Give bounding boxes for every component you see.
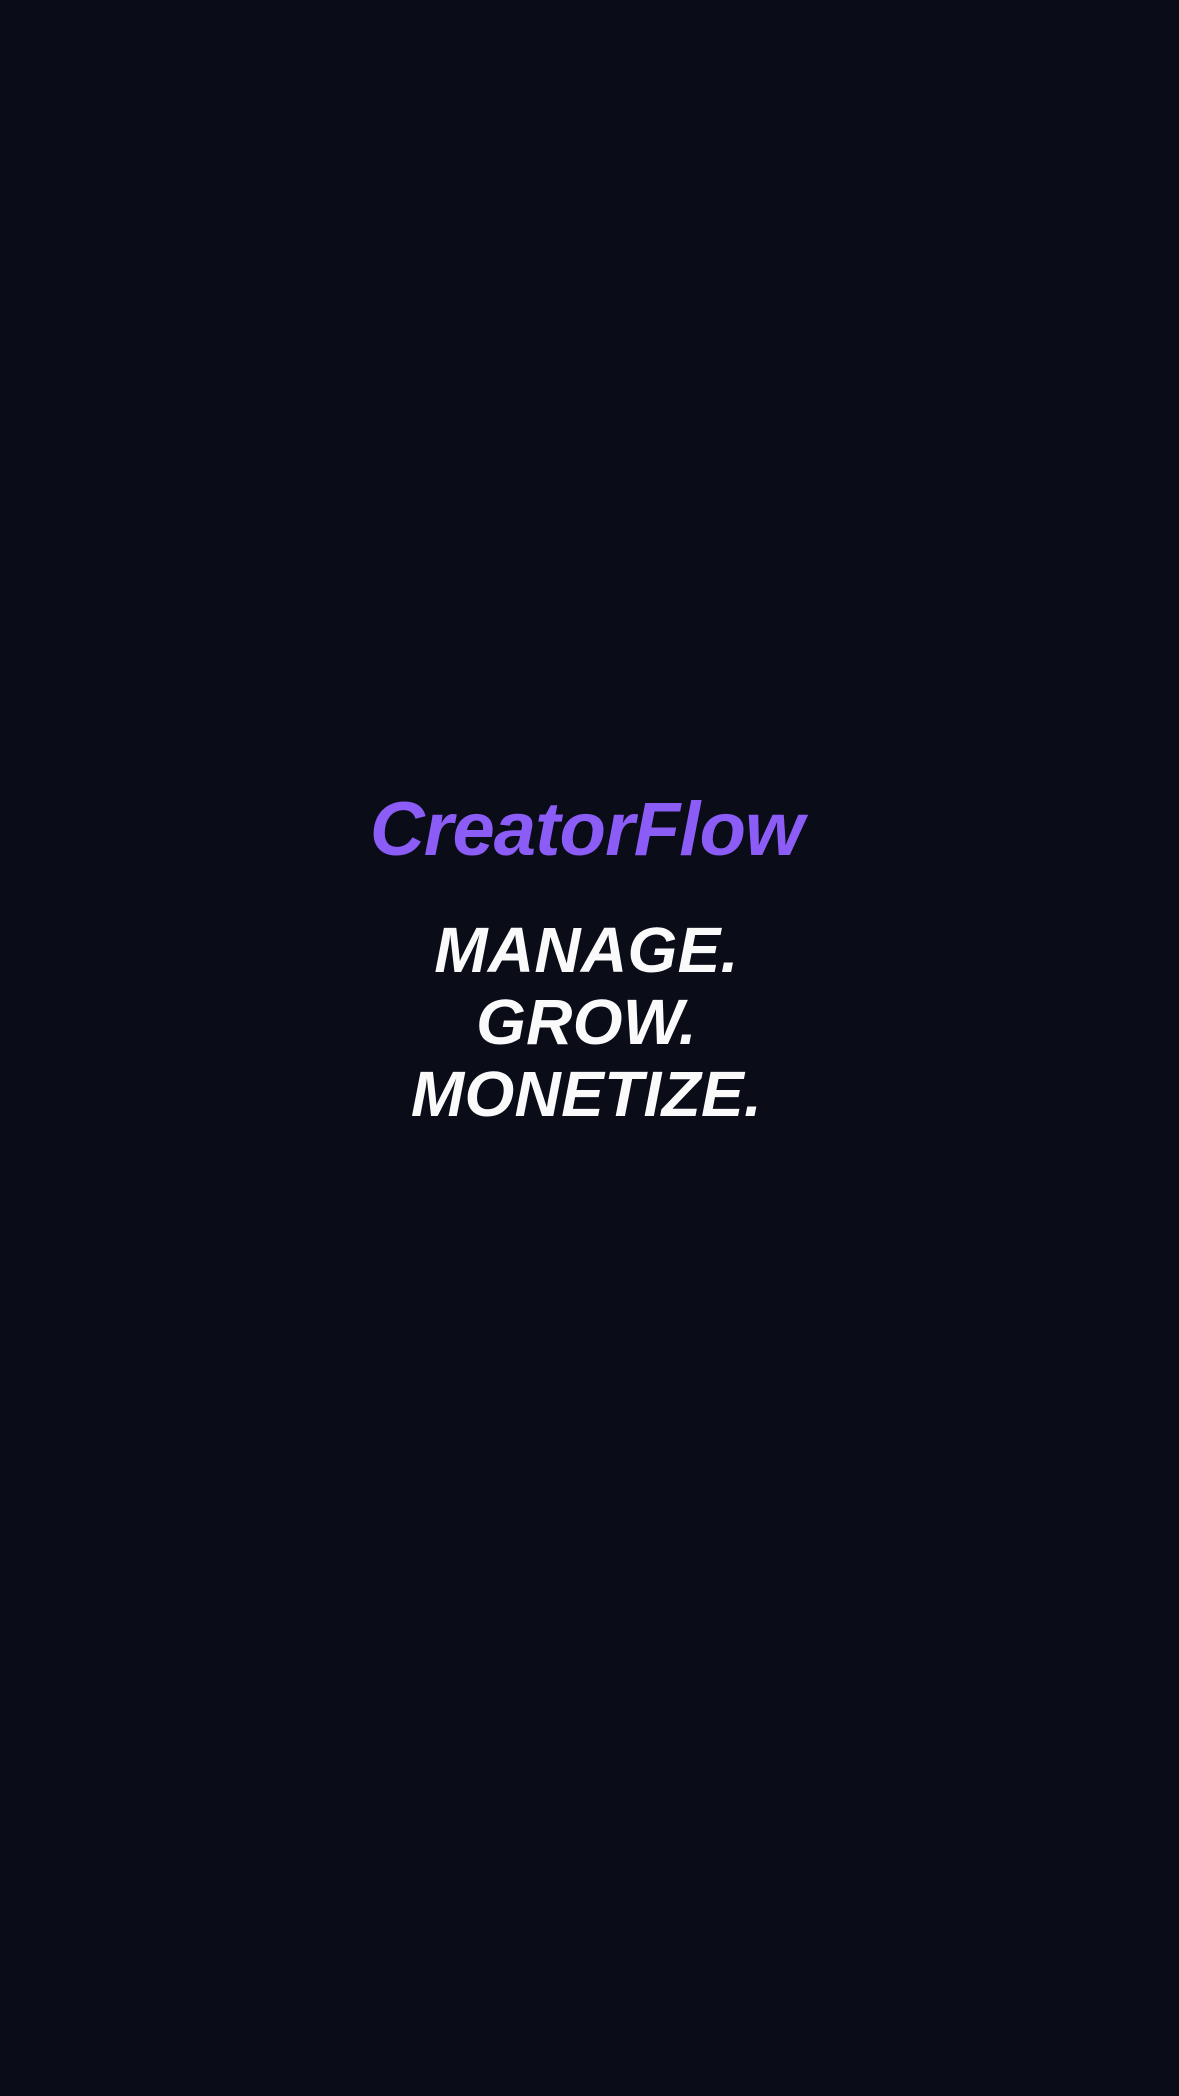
app-wordmark: CreatorFlow: [370, 792, 803, 868]
tagline: MANAGE. GROW. MONETIZE.: [411, 914, 762, 1130]
splash-screen: CreatorFlow MANAGE. GROW. MONETIZE.: [0, 0, 1179, 2096]
tagline-line-1: MANAGE.: [434, 914, 738, 986]
tagline-line-3: MONETIZE.: [411, 1058, 762, 1130]
brand-block: CreatorFlow MANAGE. GROW. MONETIZE.: [0, 792, 1179, 1130]
tagline-line-2: GROW.: [476, 986, 697, 1058]
